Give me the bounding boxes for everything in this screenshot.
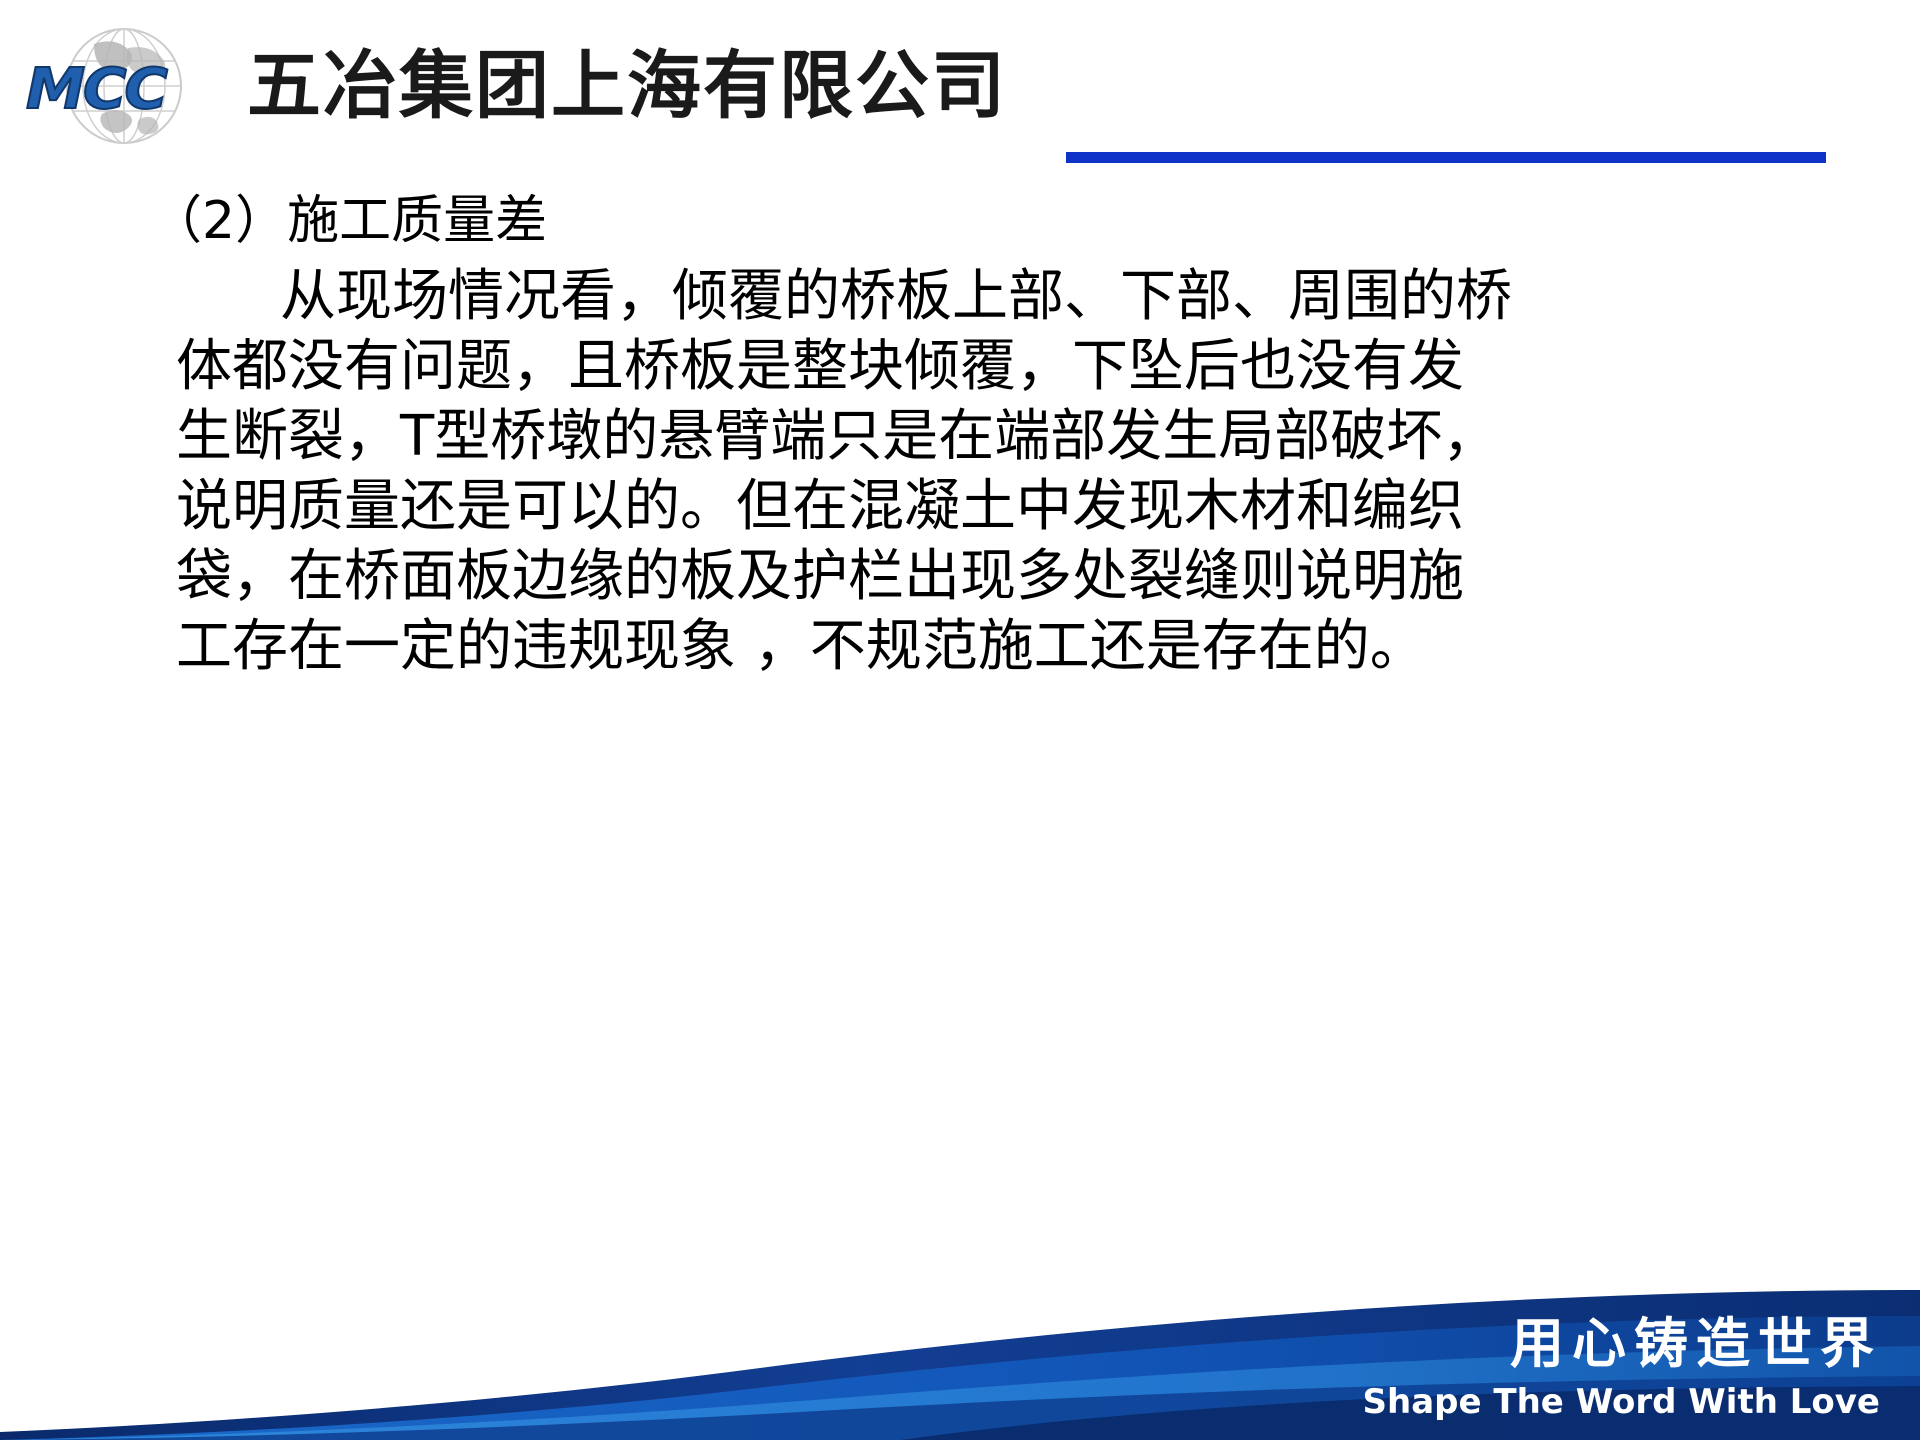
footer-slogan-english: Shape The Word With Love: [1363, 1382, 1880, 1422]
footer-slogan-chinese: 用心铸造世界: [1510, 1314, 1882, 1374]
paragraph-line: 工存在一定的违规现象 ，不规范施工还是存在的。: [176, 612, 1796, 682]
section-heading: （2）施工质量差: [150, 190, 547, 252]
paragraph-line: 说明质量还是可以的。但在混凝土中发现木材和编织: [176, 472, 1796, 542]
slide-header: MCC 五冶集团上海有限公司: [0, 0, 1920, 172]
paragraph-line: 从现场情况看，倾覆的桥板上部、下部、周围的桥: [176, 262, 1796, 332]
logo-mcc-text: MCC: [26, 62, 227, 118]
header-divider: [1066, 152, 1826, 163]
paragraph-line: 体都没有问题，且桥板是整块倾覆，下坠后也没有发: [176, 332, 1796, 402]
company-logo: MCC: [26, 22, 216, 150]
body-paragraph: 从现场情况看，倾覆的桥板上部、下部、周围的桥 体都没有问题，且桥板是整块倾覆，下…: [176, 262, 1796, 682]
paragraph-line: 袋，在桥面板边缘的板及护栏出现多处裂缝则说明施: [176, 542, 1796, 612]
paragraph-line: 生断裂，T型桥墩的悬臂端只是在端部发生局部破坏，: [176, 402, 1796, 472]
slide: MCC 五冶集团上海有限公司 （2）施工质量差 从现场情况看，倾覆的桥板上部、下…: [0, 0, 1920, 1440]
slide-footer: 用心铸造世界 Shape The Word With Love: [0, 1290, 1920, 1440]
page-title: 五冶集团上海有限公司: [247, 44, 1007, 128]
